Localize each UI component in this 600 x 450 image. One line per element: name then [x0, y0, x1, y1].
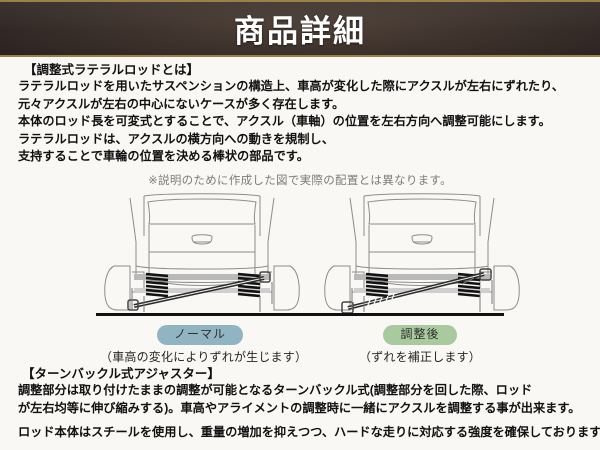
intro-line-4: ラテラルロッドは、アクスルの横方向への動きを規制し、 — [18, 131, 564, 149]
intro-heading: 【調整式ラテラルロッドとは】 — [24, 62, 564, 78]
label-group-adjusted: 調整後 （ずれを補正します） — [320, 325, 520, 365]
diagram-adjusted — [312, 192, 532, 318]
car-rear-adjusted-illustration — [312, 192, 532, 318]
page-header-banner: 商品詳細 — [0, 0, 600, 57]
car-rear-normal-illustration — [92, 192, 312, 318]
intro-line-1: ラテラルロッドを用いたサスペンションの構造上、車高が変化した際にアクスルが左右に… — [18, 78, 564, 96]
intro-line-2: 元々アクスルが左右の中心にないケースが多く存在します。 — [18, 96, 564, 114]
product-detail-page: 商品詳細 【調整式ラテラルロッドとは】 ラテラルロッドを用いたサスペンションの構… — [0, 0, 600, 450]
closing-line-1: ロッド本体はスチールを使用し、重量の増加を抑えつつ、ハードな走りに対応する強度を… — [18, 424, 600, 442]
badge-adjusted: 調整後 — [383, 325, 456, 345]
turnbuckle-line-1: 調整部分は取り付けたままの調整が可能となるターンバックル式(調整部分を回した際、… — [18, 382, 581, 400]
caption-adjusted: （ずれを補正します） — [320, 348, 520, 365]
diagram-disclaimer-note: ※説明のために作成した図で実際の配置とは異なります。 — [0, 172, 600, 188]
badge-normal: ノーマル — [157, 325, 243, 345]
label-group-normal: ノーマル （車高の変化によりずれが生じます） — [100, 325, 300, 365]
diagram-row — [0, 192, 600, 322]
intro-section: 【調整式ラテラルロッドとは】 ラテラルロッドを用いたサスペンションの構造上、車高… — [18, 62, 564, 166]
ground-line — [96, 313, 504, 316]
turnbuckle-section: 【ターンバックル式アジャスター】 調整部分は取り付けたままの調整が可能となるター… — [18, 366, 581, 417]
page-title: 商品詳細 — [234, 6, 366, 51]
intro-line-3: 本体のロッド長を可変式とすることで、アクスル（車軸）の位置を左右方向へ調整可能に… — [18, 113, 564, 131]
turnbuckle-line-2: が左右均等に伸び縮みする)。車高やアライメントの調整時に一緒にアクスルを調整する… — [18, 400, 581, 418]
turnbuckle-heading: 【ターンバックル式アジャスター】 — [22, 366, 581, 382]
caption-normal: （車高の変化によりずれが生じます） — [100, 348, 300, 365]
closing-section: ロッド本体はスチールを使用し、重量の増加を抑えつつ、ハードな走りに対応する強度を… — [18, 424, 600, 442]
intro-line-5: 支持することで車輪の位置を決める棒状の部品です。 — [18, 148, 564, 166]
diagram-normal — [92, 192, 312, 318]
